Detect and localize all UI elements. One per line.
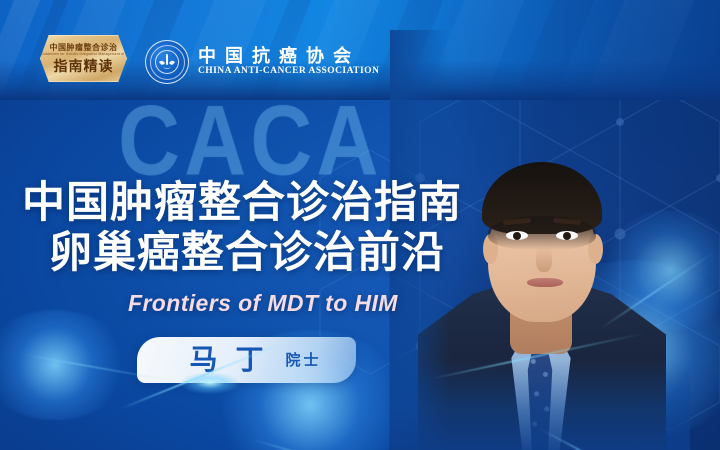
english-subtitle: Frontiers of MDT to HIM [128,290,398,317]
plate-glow [180,372,240,394]
speaker-name: 马丁 [171,346,281,374]
speaker-name-plate: 马丁 院士 [137,337,356,383]
badge-chinese-top: 中国肿瘤整合诊治 [50,44,118,52]
badge-chinese-main: 指南精读 [54,59,114,73]
caca-emblem-icon [145,40,189,84]
title-block: 中国肿瘤整合诊治指南 卵巢癌整合诊治前沿 [22,178,462,278]
association-name-cn: 中国抗癌协会 [198,47,379,66]
title-line-2: 卵巢癌整合诊治前沿 [49,228,462,278]
guideline-badge: 中国肿瘤整合诊治 CACA Guidelines for Holistic In… [40,35,127,82]
badge-english-top: CACA Guidelines for Holistic Integrative… [30,54,137,58]
association-logo: 中国抗癌协会 CHINA ANTI-CANCER ASSOCIATION [145,40,379,84]
association-name-en: CHINA ANTI-CANCER ASSOCIATION [198,66,379,77]
title-line-1: 中国肿瘤整合诊治指南 [22,178,462,228]
speaker-title: 院士 [286,353,322,368]
poster-canvas: CACA 中国肿瘤整合诊治 CACA Guidelines for Holist… [0,0,720,450]
